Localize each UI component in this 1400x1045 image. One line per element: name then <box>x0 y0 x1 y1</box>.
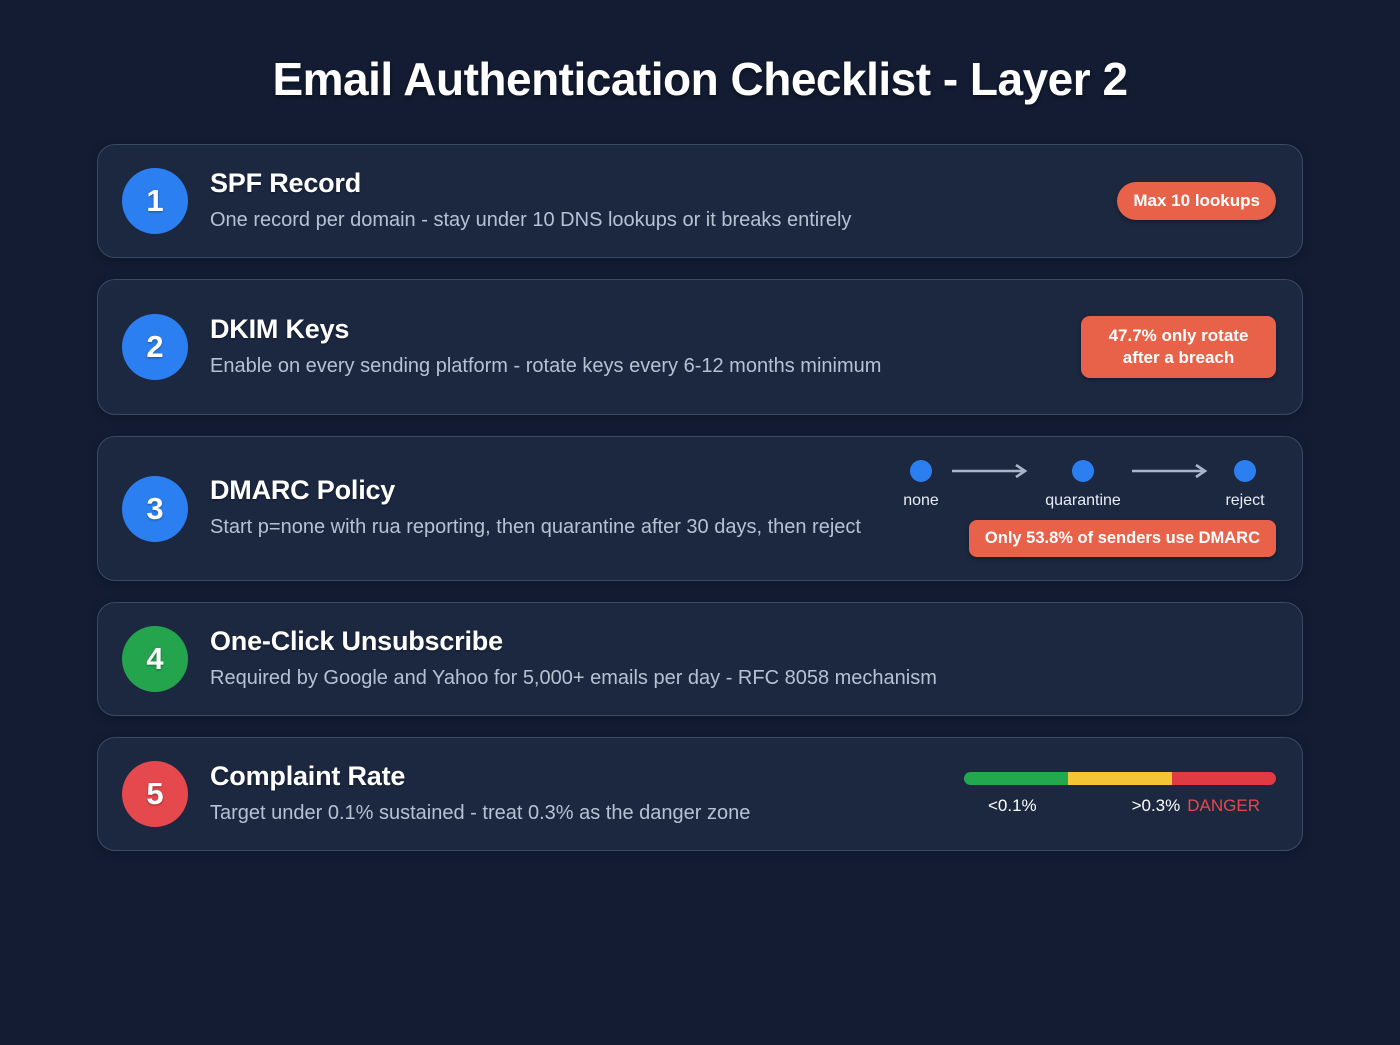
checklist-item-description: Enable on every sending platform - rotat… <box>210 352 990 381</box>
checklist-item-description: Target under 0.1% sustained - treat 0.3%… <box>210 799 948 828</box>
checklist-item-dkim-keys[interactable]: 2 DKIM Keys Enable on every sending plat… <box>97 279 1303 415</box>
step-number-badge: 1 <box>122 168 188 234</box>
checklist-item-aside: <0.1% >0.3% DANGER <box>964 772 1276 816</box>
stat-pill: Max 10 lookups <box>1117 182 1276 220</box>
checklist-item-aside: Max 10 lookups <box>1117 182 1276 220</box>
checklist-card-list: 1 SPF Record One record per domain - sta… <box>97 144 1303 851</box>
flow-node-reject: reject <box>1214 460 1276 510</box>
checklist-item-complaint-rate[interactable]: 5 Complaint Rate Target under 0.1% susta… <box>97 737 1303 851</box>
checklist-item-description: Start p=none with rua reporting, then qu… <box>210 513 874 542</box>
page-title: Email Authentication Checklist - Layer 2 <box>272 52 1127 106</box>
checklist-item-title: Complaint Rate <box>210 761 948 792</box>
checklist-item-body: DMARC Policy Start p=none with rua repor… <box>210 475 890 542</box>
flow-node-none: none <box>890 460 952 510</box>
arrow-right-icon <box>1132 460 1214 482</box>
stat-pill: 47.7% only rotate after a breach <box>1081 316 1276 378</box>
checklist-item-body: SPF Record One record per domain - stay … <box>210 168 1117 235</box>
step-number-badge: 2 <box>122 314 188 380</box>
gauge-bar <box>964 772 1276 785</box>
checklist-item-one-click-unsubscribe[interactable]: 4 One-Click Unsubscribe Required by Goog… <box>97 602 1303 716</box>
flow-node-label: quarantine <box>1045 492 1121 510</box>
checklist-item-body: One-Click Unsubscribe Required by Google… <box>210 626 1276 693</box>
gauge-label-danger: DANGER <box>1187 796 1260 816</box>
dmarc-policy-flow: none quarantine <box>890 460 1276 510</box>
checklist-item-aside: none quarantine <box>890 460 1276 557</box>
gauge-segment-safe <box>964 772 1068 785</box>
step-number-badge: 5 <box>122 761 188 827</box>
checklist-item-title: DKIM Keys <box>210 314 1065 345</box>
flow-dot-icon <box>910 460 932 482</box>
checklist-item-dmarc-policy[interactable]: 3 DMARC Policy Start p=none with rua rep… <box>97 436 1303 581</box>
checklist-item-title: One-Click Unsubscribe <box>210 626 1260 657</box>
checklist-page: Email Authentication Checklist - Layer 2… <box>0 0 1400 1045</box>
flow-node-quarantine: quarantine <box>1034 460 1132 510</box>
checklist-item-title: SPF Record <box>210 168 1101 199</box>
arrow-right-icon <box>952 460 1034 482</box>
gauge-label-high-group: >0.3% DANGER <box>1132 796 1260 816</box>
flow-node-label: reject <box>1225 492 1264 510</box>
gauge-segment-warning <box>1068 772 1172 785</box>
checklist-item-body: Complaint Rate Target under 0.1% sustain… <box>210 761 964 828</box>
checklist-item-body: DKIM Keys Enable on every sending platfo… <box>210 314 1081 381</box>
flow-dot-icon <box>1072 460 1094 482</box>
checklist-item-description: One record per domain - stay under 10 DN… <box>210 206 990 235</box>
checklist-item-description: Required by Google and Yahoo for 5,000+ … <box>210 664 990 693</box>
step-number-badge: 3 <box>122 476 188 542</box>
checklist-item-title: DMARC Policy <box>210 475 874 506</box>
gauge-labels: <0.1% >0.3% DANGER <box>964 796 1276 816</box>
checklist-item-spf-record[interactable]: 1 SPF Record One record per domain - sta… <box>97 144 1303 258</box>
stat-pill: Only 53.8% of senders use DMARC <box>969 520 1276 557</box>
step-number-badge: 4 <box>122 626 188 692</box>
gauge-label-low: <0.1% <box>988 796 1037 816</box>
flow-dot-icon <box>1234 460 1256 482</box>
complaint-rate-gauge: <0.1% >0.3% DANGER <box>964 772 1276 816</box>
gauge-segment-danger <box>1172 772 1276 785</box>
checklist-item-aside: 47.7% only rotate after a breach <box>1081 316 1276 378</box>
flow-node-label: none <box>903 492 939 510</box>
gauge-label-high: >0.3% <box>1132 796 1181 816</box>
